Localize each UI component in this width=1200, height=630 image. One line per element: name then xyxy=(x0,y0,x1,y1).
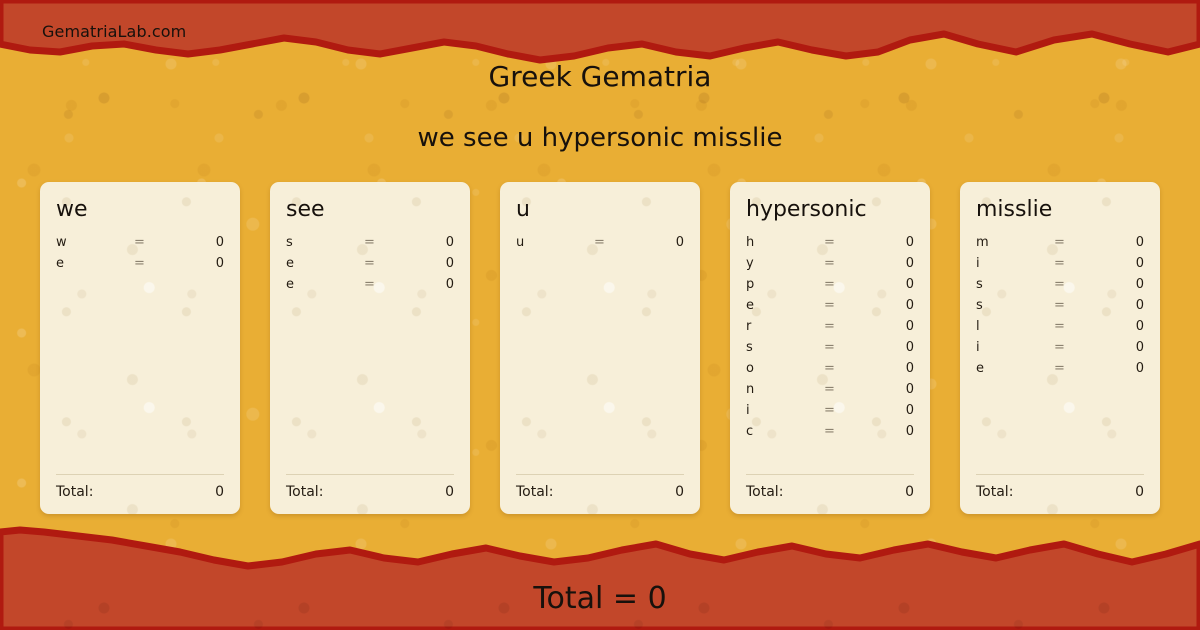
letter-value: 0 xyxy=(1094,274,1144,295)
equals-sign: = xyxy=(824,337,864,358)
letter-row: s = 0 xyxy=(976,295,1144,316)
total-label: Total: xyxy=(516,484,675,500)
letter-row: m = 0 xyxy=(976,232,1144,253)
letter-value: 0 xyxy=(864,274,914,295)
word-card: hypersonic h = 0 y = 0 p = 0 e = 0 xyxy=(730,182,930,514)
word-card: we w = 0 e = 0 Total: 0 xyxy=(40,182,240,514)
equals-sign: = xyxy=(824,295,864,316)
letter-value: 0 xyxy=(864,337,914,358)
letter-rows: u = 0 xyxy=(516,232,684,474)
letter-row: e = 0 xyxy=(286,274,454,295)
total-label: Total: xyxy=(746,484,905,500)
word-card-title: hypersonic xyxy=(746,196,914,224)
equals-sign: = xyxy=(824,379,864,400)
letter-row: o = 0 xyxy=(746,358,914,379)
equals-sign: = xyxy=(1054,253,1094,274)
letter-label: i xyxy=(746,400,824,421)
letter-label: u xyxy=(516,232,594,253)
phrase-heading: we see u hypersonic misslie xyxy=(0,123,1200,153)
word-card: see s = 0 e = 0 e = 0 Total: 0 xyxy=(270,182,470,514)
letter-label: e xyxy=(56,253,134,274)
letter-row: l = 0 xyxy=(976,316,1144,337)
letter-value: 0 xyxy=(864,232,914,253)
word-card: misslie m = 0 i = 0 s = 0 s = 0 xyxy=(960,182,1160,514)
letter-label: h xyxy=(746,232,824,253)
letter-row: w = 0 xyxy=(56,232,224,253)
letter-row: e = 0 xyxy=(56,253,224,274)
total-value: 0 xyxy=(445,484,454,500)
word-card-total: Total: 0 xyxy=(976,474,1144,500)
equals-sign: = xyxy=(364,232,404,253)
equals-sign: = xyxy=(1054,358,1094,379)
letter-rows: h = 0 y = 0 p = 0 e = 0 r = 0 xyxy=(746,232,914,474)
letter-label: y xyxy=(746,253,824,274)
equals-sign: = xyxy=(1054,295,1094,316)
total-value: 0 xyxy=(215,484,224,500)
letter-rows: w = 0 e = 0 xyxy=(56,232,224,474)
equals-sign: = xyxy=(1054,316,1094,337)
letter-value: 0 xyxy=(634,232,684,253)
equals-sign: = xyxy=(824,400,864,421)
letter-row: s = 0 xyxy=(976,274,1144,295)
letter-value: 0 xyxy=(1094,337,1144,358)
letter-row: e = 0 xyxy=(746,295,914,316)
equals-sign: = xyxy=(364,274,404,295)
letter-value: 0 xyxy=(864,316,914,337)
equals-sign: = xyxy=(824,421,864,442)
total-value: 0 xyxy=(1135,484,1144,500)
letter-value: 0 xyxy=(1094,316,1144,337)
letter-label: e xyxy=(976,358,1054,379)
word-card: u u = 0 Total: 0 xyxy=(500,182,700,514)
equals-sign: = xyxy=(824,253,864,274)
total-label: Total: xyxy=(286,484,445,500)
equals-sign: = xyxy=(1054,232,1094,253)
letter-label: s xyxy=(286,232,364,253)
word-card-title: see xyxy=(286,196,454,224)
equals-sign: = xyxy=(824,274,864,295)
equals-sign: = xyxy=(824,316,864,337)
letter-value: 0 xyxy=(1094,295,1144,316)
letter-value: 0 xyxy=(864,400,914,421)
letter-value: 0 xyxy=(1094,253,1144,274)
total-label: Total: xyxy=(976,484,1135,500)
letter-row: u = 0 xyxy=(516,232,684,253)
letter-label: p xyxy=(746,274,824,295)
total-value: 0 xyxy=(905,484,914,500)
letter-rows: s = 0 e = 0 e = 0 xyxy=(286,232,454,474)
letter-row: i = 0 xyxy=(976,253,1144,274)
letter-label: i xyxy=(976,337,1054,358)
letter-row: n = 0 xyxy=(746,379,914,400)
letter-label: e xyxy=(286,274,364,295)
letter-row: y = 0 xyxy=(746,253,914,274)
letter-label: i xyxy=(976,253,1054,274)
letter-value: 0 xyxy=(864,358,914,379)
equals-sign: = xyxy=(824,232,864,253)
grand-total: Total = 0 xyxy=(0,581,1200,616)
letter-label: r xyxy=(746,316,824,337)
letter-label: s xyxy=(976,274,1054,295)
letter-label: n xyxy=(746,379,824,400)
site-logo[interactable]: GematriaLab.com xyxy=(42,22,186,41)
word-cards-container: we w = 0 e = 0 Total: 0 see s = 0 xyxy=(40,182,1160,514)
letter-value: 0 xyxy=(174,253,224,274)
letter-value: 0 xyxy=(864,253,914,274)
equals-sign: = xyxy=(1054,274,1094,295)
letter-value: 0 xyxy=(864,295,914,316)
word-card-total: Total: 0 xyxy=(286,474,454,500)
letter-row: i = 0 xyxy=(976,337,1144,358)
letter-label: s xyxy=(976,295,1054,316)
letter-row: s = 0 xyxy=(746,337,914,358)
letter-row: i = 0 xyxy=(746,400,914,421)
letter-label: c xyxy=(746,421,824,442)
letter-value: 0 xyxy=(404,232,454,253)
letter-label: s xyxy=(746,337,824,358)
letter-label: o xyxy=(746,358,824,379)
letter-row: p = 0 xyxy=(746,274,914,295)
equals-sign: = xyxy=(1054,337,1094,358)
letter-value: 0 xyxy=(1094,358,1144,379)
letter-row: s = 0 xyxy=(286,232,454,253)
letter-row: e = 0 xyxy=(976,358,1144,379)
letter-label: l xyxy=(976,316,1054,337)
letter-label: e xyxy=(746,295,824,316)
word-card-total: Total: 0 xyxy=(516,474,684,500)
letter-value: 0 xyxy=(1094,232,1144,253)
letter-row: r = 0 xyxy=(746,316,914,337)
equals-sign: = xyxy=(594,232,634,253)
total-value: 0 xyxy=(675,484,684,500)
equals-sign: = xyxy=(134,253,174,274)
letter-value: 0 xyxy=(404,274,454,295)
word-card-title: misslie xyxy=(976,196,1144,224)
word-card-title: u xyxy=(516,196,684,224)
letter-row: c = 0 xyxy=(746,421,914,442)
letter-row: e = 0 xyxy=(286,253,454,274)
equals-sign: = xyxy=(134,232,174,253)
equals-sign: = xyxy=(364,253,404,274)
letter-value: 0 xyxy=(864,421,914,442)
letter-value: 0 xyxy=(174,232,224,253)
letter-value: 0 xyxy=(864,379,914,400)
word-card-title: we xyxy=(56,196,224,224)
letter-label: m xyxy=(976,232,1054,253)
letter-row: h = 0 xyxy=(746,232,914,253)
letter-value: 0 xyxy=(404,253,454,274)
letter-rows: m = 0 i = 0 s = 0 s = 0 l = 0 xyxy=(976,232,1144,474)
letter-label: w xyxy=(56,232,134,253)
word-card-total: Total: 0 xyxy=(746,474,914,500)
total-label: Total: xyxy=(56,484,215,500)
letter-label: e xyxy=(286,253,364,274)
word-card-total: Total: 0 xyxy=(56,474,224,500)
page-title: Greek Gematria xyxy=(0,60,1200,93)
equals-sign: = xyxy=(824,358,864,379)
